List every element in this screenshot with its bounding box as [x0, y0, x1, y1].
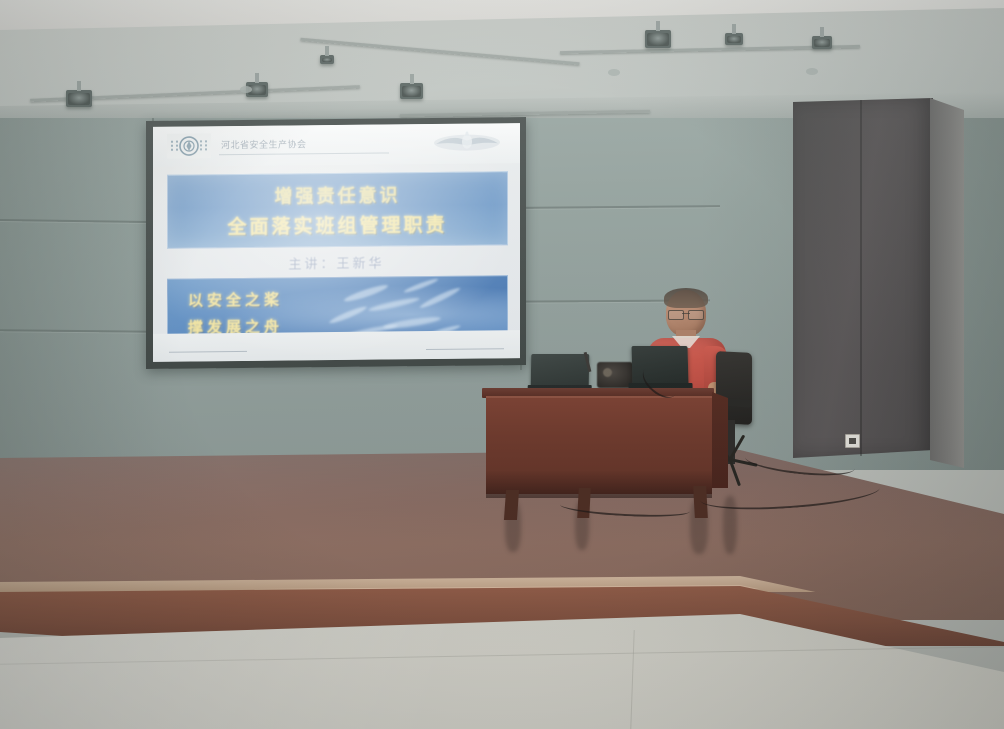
alcove-panel-seam — [860, 100, 862, 456]
laptop-computer-left — [531, 354, 590, 386]
safety-association-emblem-icon — [167, 133, 211, 158]
ceiling-track-spotlight — [66, 90, 92, 107]
slide-header-rule — [219, 152, 389, 155]
projection-screen-frame: 河北省安全生产协会 增强责任意识 全面落实班组管理职责 主讲：王新华 — [146, 117, 526, 369]
slide-presenter-label: 主讲：王新华 — [153, 251, 520, 274]
water-wave-shape — [343, 283, 389, 304]
slide-title-line-1: 增强责任意识 — [275, 181, 401, 208]
slide-header: 河北省安全生产协会 — [153, 123, 520, 167]
wall-power-outlet-icon — [845, 434, 860, 448]
desk-shadow — [486, 470, 712, 498]
ceiling-track-spotlight — [812, 36, 832, 49]
wall-shading-left — [0, 118, 160, 470]
dark-wall-alcove — [793, 98, 933, 458]
alcove-side-wall — [930, 96, 964, 468]
conference-room-photo: 河北省安全生产协会 增强责任意识 全面落实班组管理职责 主讲：王新华 — [0, 0, 1004, 729]
slide-footer-rule-right — [426, 348, 504, 350]
ceiling-track-spotlight — [320, 55, 334, 64]
slide-organization-name: 河北省安全生产协会 — [221, 137, 307, 151]
eagle-graphic-icon — [432, 129, 502, 156]
slide-title-line-2: 全面落实班组管理职责 — [227, 210, 447, 239]
water-wave-shape — [328, 304, 367, 325]
ceiling-track-spotlight — [645, 30, 671, 48]
ceiling-track-spotlight — [400, 83, 423, 99]
slide-footer-rule-left — [169, 351, 247, 353]
ceiling-track-spotlight — [725, 33, 743, 45]
projection-screen-surface: 河北省安全生产协会 增强责任意识 全面落实班组管理职责 主讲：王新华 — [153, 123, 520, 362]
eyeglasses-icon — [668, 310, 704, 318]
presenter-desk-side — [712, 392, 728, 488]
slide-slogan: 以安全之桨 撑发展之舟 — [188, 289, 283, 338]
water-wave-shape — [419, 286, 461, 310]
slide-title-banner: 增强责任意识 全面落实班组管理职责 — [167, 171, 508, 249]
ceiling-downlight — [240, 86, 252, 93]
water-wave-shape — [368, 296, 420, 313]
presenter-hair — [664, 288, 708, 308]
slide-footer — [153, 330, 520, 362]
ceiling-downlight — [608, 69, 620, 76]
water-wave-shape — [403, 277, 439, 294]
slide-slogan-line-1: 以安全之桨 — [188, 289, 283, 311]
ceiling-downlight — [806, 68, 818, 75]
desk-leg — [504, 490, 519, 520]
